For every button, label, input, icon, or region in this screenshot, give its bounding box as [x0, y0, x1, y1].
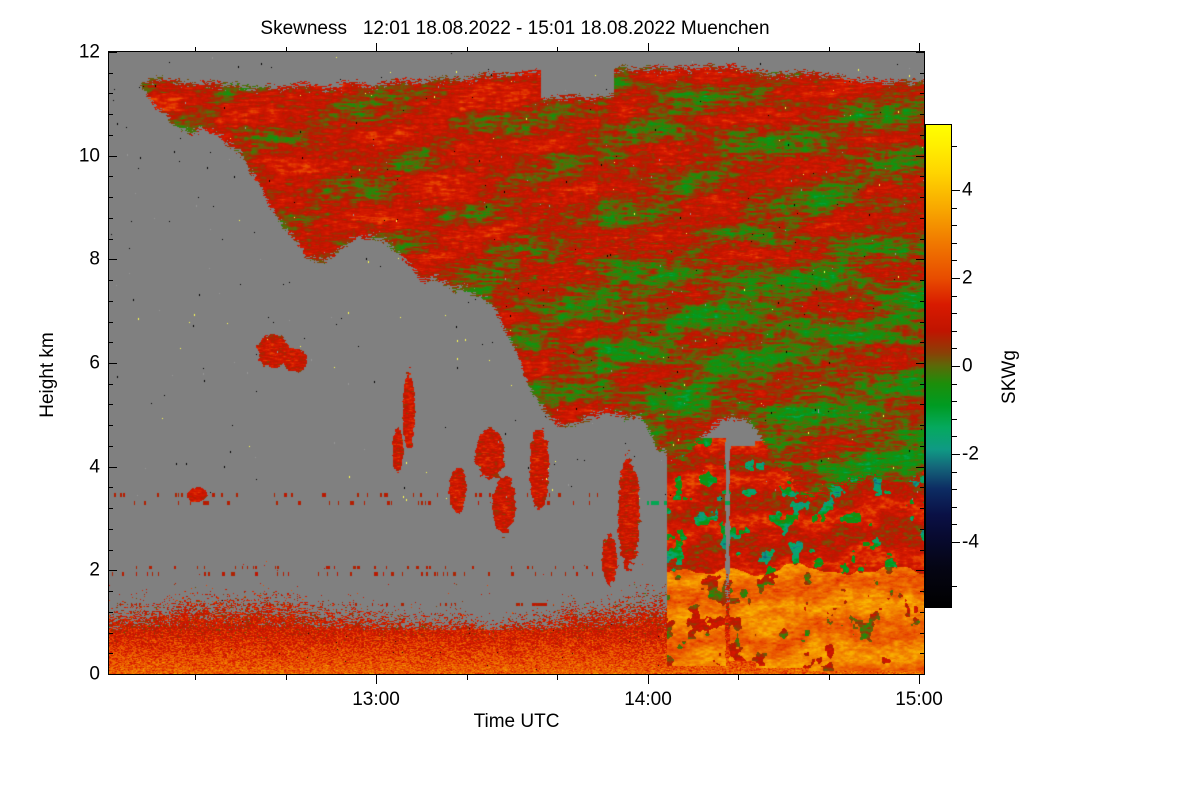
x-tick-minor-top — [738, 47, 739, 52]
colorbar-tick-label: 2 — [962, 269, 973, 288]
y-tick-mark — [108, 52, 117, 53]
x-tick-minor — [738, 675, 739, 680]
colorbar-tick-minor — [952, 419, 957, 420]
y-tick-mark — [108, 363, 117, 364]
y-tick-label: 10 — [54, 147, 100, 166]
colorbar-tick-mark — [952, 366, 960, 367]
y-axis-title: Height km — [37, 295, 59, 455]
y-tick-minor — [108, 176, 113, 177]
y-tick-minor-right — [920, 93, 925, 94]
colorbar-tick-minor — [952, 313, 957, 314]
y-tick-minor — [108, 114, 113, 115]
colorbar-gradient — [926, 125, 951, 607]
y-tick-minor — [108, 301, 113, 302]
y-tick-mark-right — [916, 156, 925, 157]
y-tick-minor-right — [920, 633, 925, 634]
y-tick-label: 4 — [54, 458, 100, 477]
y-tick-minor — [108, 197, 113, 198]
x-tick-minor-top — [195, 47, 196, 52]
x-tick-minor — [557, 675, 558, 680]
x-tick-minor-top — [557, 47, 558, 52]
y-tick-minor — [108, 93, 113, 94]
y-tick-minor — [108, 322, 113, 323]
x-tick-mark — [376, 675, 377, 684]
x-tick-minor-top — [467, 47, 468, 52]
x-tick-label: 15:00 — [859, 689, 979, 711]
colorbar-tick-mark — [952, 190, 960, 191]
y-tick-mark-right — [916, 467, 925, 468]
y-tick-minor — [108, 135, 113, 136]
colorbar-tick-minor — [952, 296, 957, 297]
colorbar-tick-minor — [952, 146, 957, 147]
y-tick-minor — [108, 446, 113, 447]
colorbar-tick-minor — [952, 507, 957, 508]
x-tick-mark — [919, 675, 920, 684]
y-tick-label: 6 — [54, 354, 100, 373]
y-tick-minor — [108, 239, 113, 240]
colorbar-tick-minor — [952, 260, 957, 261]
x-tick-label: 14:00 — [588, 689, 708, 711]
heatmap-image — [109, 52, 924, 674]
colorbar-tick-minor — [952, 348, 957, 349]
colorbar-tick-minor — [952, 384, 957, 385]
y-tick-minor — [108, 342, 113, 343]
x-tick-minor-top — [829, 47, 830, 52]
x-tick-mark — [648, 675, 649, 684]
y-tick-label: 0 — [54, 665, 100, 684]
y-tick-minor — [108, 591, 113, 592]
x-tick-minor — [195, 675, 196, 680]
colorbar-tick-label: -2 — [962, 445, 979, 464]
y-tick-minor — [108, 218, 113, 219]
y-tick-mark-right — [916, 674, 925, 675]
x-tick-mark-top — [648, 43, 649, 52]
y-tick-minor-right — [920, 612, 925, 613]
colorbar-tick-minor — [952, 401, 957, 402]
x-tick-minor-top — [286, 47, 287, 52]
x-tick-minor — [829, 675, 830, 680]
y-tick-label: 12 — [54, 43, 100, 62]
y-tick-mark-right — [916, 259, 925, 260]
plot-area — [108, 51, 925, 675]
y-tick-minor-right — [920, 653, 925, 654]
x-axis-title: Time UTC — [108, 711, 925, 733]
chart-figure: Skewness 12:01 18.08.2022 - 15:01 18.08.… — [0, 0, 1200, 800]
x-tick-minor — [467, 675, 468, 680]
y-tick-minor — [108, 529, 113, 530]
colorbar-tick-label: 4 — [962, 181, 973, 200]
colorbar-tick-minor — [952, 243, 957, 244]
colorbar-tick-minor — [952, 331, 957, 332]
page-title: Skewness 12:01 18.08.2022 - 15:01 18.08.… — [0, 18, 1030, 40]
y-tick-label: 8 — [54, 250, 100, 269]
colorbar-tick-label: 0 — [962, 357, 973, 376]
y-tick-minor — [108, 550, 113, 551]
y-tick-minor — [108, 653, 113, 654]
colorbar-tick-label: -4 — [962, 533, 979, 552]
y-tick-mark-right — [916, 363, 925, 364]
y-tick-mark — [108, 674, 117, 675]
y-tick-mark — [108, 156, 117, 157]
y-tick-minor — [108, 633, 113, 634]
y-tick-minor-right — [920, 73, 925, 74]
y-tick-minor — [108, 73, 113, 74]
colorbar-tick-mark — [952, 278, 960, 279]
y-tick-minor — [108, 384, 113, 385]
colorbar-tick-mark — [952, 454, 960, 455]
colorbar-tick-minor — [952, 208, 957, 209]
y-tick-minor — [108, 280, 113, 281]
y-tick-minor — [108, 404, 113, 405]
y-tick-minor — [108, 508, 113, 509]
x-tick-minor — [286, 675, 287, 680]
x-tick-label: 13:00 — [316, 689, 436, 711]
colorbar-tick-minor — [952, 436, 957, 437]
colorbar-tick-mark — [952, 542, 960, 543]
colorbar — [925, 124, 952, 608]
colorbar-tick-minor — [952, 524, 957, 525]
y-tick-minor-right — [920, 114, 925, 115]
y-tick-mark-right — [916, 52, 925, 53]
x-tick-mark-top — [376, 43, 377, 52]
colorbar-tick-minor — [952, 472, 957, 473]
y-tick-mark — [108, 570, 117, 571]
y-tick-minor — [108, 425, 113, 426]
y-tick-mark — [108, 467, 117, 468]
y-tick-minor — [108, 612, 113, 613]
x-tick-mark-top — [919, 43, 920, 52]
y-tick-minor — [108, 487, 113, 488]
y-tick-mark-right — [916, 570, 925, 571]
colorbar-tick-minor — [952, 225, 957, 226]
colorbar-title: SKWg — [999, 297, 1021, 457]
colorbar-tick-minor — [952, 489, 957, 490]
y-tick-label: 2 — [54, 561, 100, 580]
colorbar-tick-minor — [952, 586, 957, 587]
y-tick-mark — [108, 259, 117, 260]
